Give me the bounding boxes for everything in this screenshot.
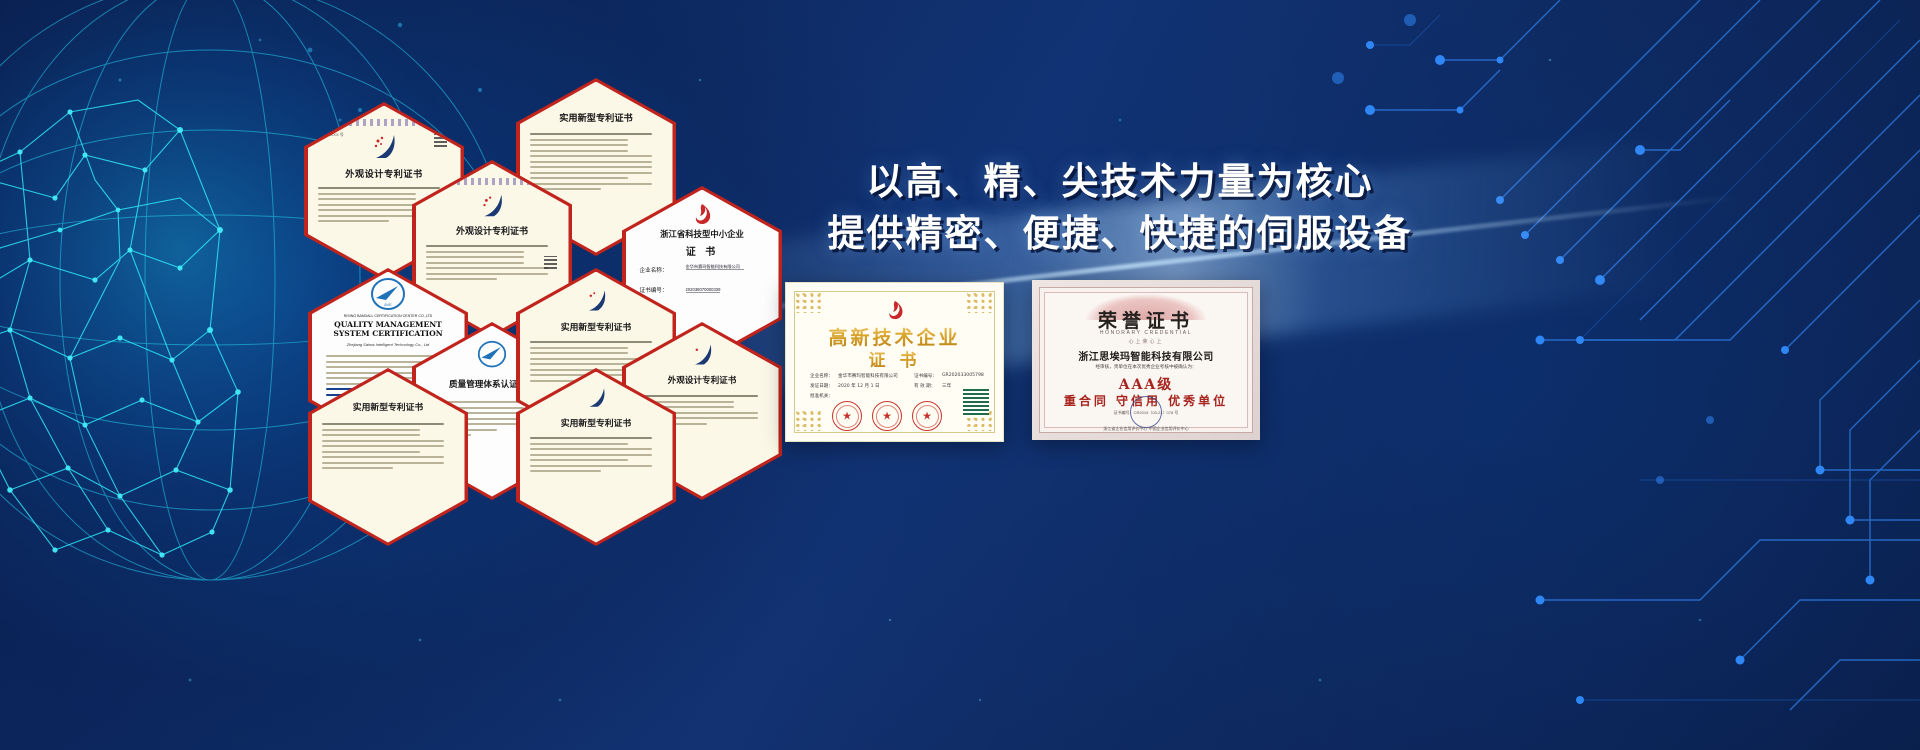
hex-cert-title: 外观设计专利证书 xyxy=(308,166,461,180)
cert-row-label: 证书编号： xyxy=(914,373,937,379)
flame-logo-icon xyxy=(690,202,714,231)
certificate-note: 经审核，贵单位在本次优秀企业考核中被确认为： xyxy=(1032,364,1260,370)
cert-row-value: 金华市赛玛智能科技有限公司 xyxy=(838,373,898,379)
hex-cert-field-label: 企业名称： xyxy=(640,266,668,274)
sail-logo-icon xyxy=(477,192,507,225)
headline-line-1: 以高、精、尖技术力量为核心 xyxy=(760,158,1480,206)
hex-cert-field-label: 证书编号： xyxy=(640,286,668,294)
official-seal-icon xyxy=(872,401,902,431)
sail-logo-icon xyxy=(583,386,609,415)
hex-cert-subtitle: 证 书 xyxy=(626,243,779,258)
official-seal-icon xyxy=(832,401,862,431)
hex-cert-title: QUALITY MANAGEMENT SYSTEM CERTIFICATION xyxy=(316,320,461,338)
hex-cert-title: 外观设计专利证书 xyxy=(416,224,569,237)
hex-cert-title: 外观设计专利证书 xyxy=(626,374,779,386)
certificate-org: 浙江省企业信用评价中心·中国企业信用评价中心 xyxy=(1032,426,1260,432)
hex-cert-title: 实用新型专利证书 xyxy=(312,400,465,413)
cert-row-value: 2020 年 12 月 1 日 xyxy=(838,383,880,389)
hex-cert-title: 实用新型专利证书 xyxy=(520,320,673,333)
hex-cert-field-value: 202038070000339 xyxy=(686,287,721,293)
cert-row-label: 有 效 期： xyxy=(914,383,935,389)
certificate-company-name: 浙江思埃玛智能科技有限公司 xyxy=(1032,348,1260,363)
high-tech-enterprise-certificate[interactable]: 高新技术企业 证 书 企业名称： 金华市赛玛智能科技有限公司 证书编号： GR2… xyxy=(785,282,1004,442)
certificate-title-english: HONORARY CREDENTIAL xyxy=(1032,330,1260,336)
cert-row-label: 批准机关： xyxy=(810,393,833,399)
certificate-grade: AAA级 xyxy=(1032,374,1260,394)
flame-logo-icon xyxy=(884,299,906,326)
hex-cert-title: 实用新型专利证书 xyxy=(520,416,673,429)
hex-cert-title: 实用新型专利证书 xyxy=(520,110,673,124)
cert-row-value: GR202033005798 xyxy=(942,373,984,378)
sail-logo-icon xyxy=(368,132,400,167)
cert-row-label: 企业名称： xyxy=(810,373,833,379)
hexagon-certificate-cluster: 外观设计专利证书 第 XXXXXX 号 实用新型专利证书 xyxy=(300,78,770,548)
certificate-title-english-sub: 心上荣心上 xyxy=(1032,338,1260,345)
qr-code-icon xyxy=(963,389,989,415)
certification-body-logo-icon: AVE xyxy=(370,278,406,317)
honorary-credential-certificate[interactable]: 荣誉证书 HONORARY CREDENTIAL 心上荣心上 浙江思埃玛智能科技… xyxy=(1032,280,1260,440)
hex-cert-header: RISING BANDALL CERTIFICATION CENTER CO.,… xyxy=(318,314,459,318)
banner-stage: 以高、精、尖技术力量为核心 提供精密、便捷、快捷的伺服设备 外观设计专利证书 第… xyxy=(0,0,1920,750)
certificate-title: 荣誉证书 xyxy=(1032,306,1260,333)
certificate-footer: 证书编号：CR2019（03-21）078 号 xyxy=(1032,410,1260,416)
certificate-subtitle: 证 书 xyxy=(786,346,1003,371)
hex-cert-field-value: 金华市赛玛智能科技有限公司 xyxy=(686,264,744,270)
certification-body-logo-icon xyxy=(476,340,508,375)
hex-cert-title: 浙江省科技型中小企业 xyxy=(626,228,779,240)
headline-line-2: 提供精密、便捷、快捷的伺服设备 xyxy=(760,210,1480,258)
cert-row-value: 三年 xyxy=(942,383,951,389)
sail-logo-icon xyxy=(582,288,610,319)
cert-row-label: 发证日期： xyxy=(810,383,833,389)
sail-logo-icon xyxy=(688,342,716,373)
hex-cert-company: Zhejiang Saima Intelligent Technology Co… xyxy=(318,342,459,347)
svg-text:AVE: AVE xyxy=(384,302,392,307)
headline-block: 以高、精、尖技术力量为核心 提供精密、便捷、快捷的伺服设备 xyxy=(760,158,1480,258)
official-seal-icon xyxy=(912,401,942,431)
